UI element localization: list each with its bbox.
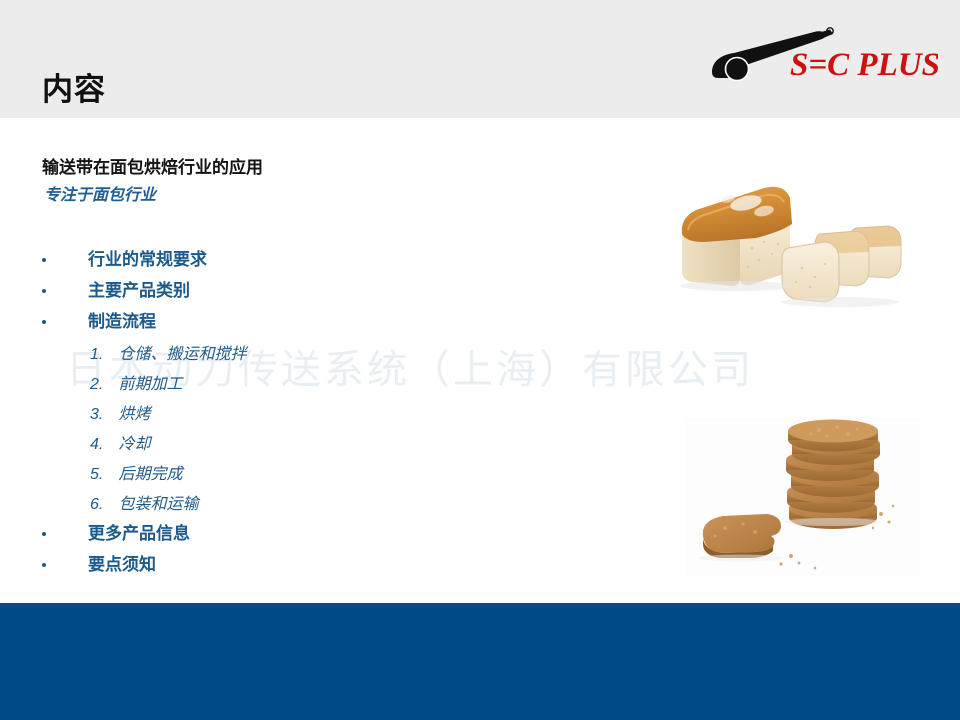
list-item[interactable]: 更多产品信息 xyxy=(36,518,636,549)
step-label: 前期加工 xyxy=(118,376,182,393)
bullet-label: 行业的常规要求 xyxy=(88,244,207,275)
step-index: 1. xyxy=(90,340,114,370)
list-item[interactable]: 3. 烘烤 xyxy=(90,400,610,430)
step-label: 冷却 xyxy=(118,436,150,453)
bullet-dot-icon xyxy=(42,320,46,324)
list-item[interactable]: 制造流程 xyxy=(36,306,636,337)
step-index: 4. xyxy=(90,430,114,460)
bullet-dot-icon xyxy=(42,258,46,262)
list-item[interactable]: 4. 冷却 xyxy=(90,430,610,460)
content-headline: 输送带在面包烘焙行业的应用 xyxy=(42,158,263,178)
step-index: 6. xyxy=(90,490,114,520)
content-subhead: 专注于面包行业 xyxy=(44,186,156,205)
bread-loaf-image xyxy=(660,172,930,324)
bullet-label: 主要产品类别 xyxy=(88,275,190,306)
list-item[interactable]: 行业的常规要求 xyxy=(36,244,636,275)
slide-footer-bar-edge xyxy=(0,603,960,606)
list-item[interactable]: 6. 包装和运输 xyxy=(90,490,610,520)
bullet-dot-icon xyxy=(42,563,46,567)
bullet-dot-icon xyxy=(42,532,46,536)
bullet-dot-icon xyxy=(42,289,46,293)
bullet-label: 制造流程 xyxy=(88,306,156,337)
step-label: 仓储、搬运和搅拌 xyxy=(118,346,246,363)
top-bullet-list: 行业的常规要求 主要产品类别 制造流程 xyxy=(36,244,636,337)
bullet-label: 要点须知 xyxy=(88,549,156,580)
step-label: 包装和运输 xyxy=(118,496,198,513)
list-item[interactable]: 要点须知 xyxy=(36,549,636,580)
slide-footer-bar xyxy=(0,603,960,720)
logo-text: S=C PLUS xyxy=(790,47,938,83)
list-item[interactable]: 主要产品类别 xyxy=(36,275,636,306)
list-item[interactable]: 2. 前期加工 xyxy=(90,370,610,400)
page-title: 内容 xyxy=(42,74,106,105)
bullet-label: 更多产品信息 xyxy=(88,518,190,549)
step-index: 5. xyxy=(90,460,114,490)
step-index: 2. xyxy=(90,370,114,400)
cookie-stack-image xyxy=(685,418,920,576)
bottom-bullet-list: 更多产品信息 要点须知 xyxy=(36,518,636,580)
step-index: 3. xyxy=(90,400,114,430)
company-logo: S=C PLUS xyxy=(706,22,938,88)
presentation-slide: 内容 S=C PLUS 输送带在面包烘焙行业的应用 专注于面包行业 日本动力传送… xyxy=(0,0,960,720)
step-label: 后期完成 xyxy=(118,466,182,483)
process-step-list: 1. 仓储、搬运和搅拌 2. 前期加工 3. 烘烤 4. 冷却 5. 后期完成 … xyxy=(90,340,610,520)
step-label: 烘烤 xyxy=(118,406,150,423)
list-item[interactable]: 1. 仓储、搬运和搅拌 xyxy=(90,340,610,370)
list-item[interactable]: 5. 后期完成 xyxy=(90,460,610,490)
